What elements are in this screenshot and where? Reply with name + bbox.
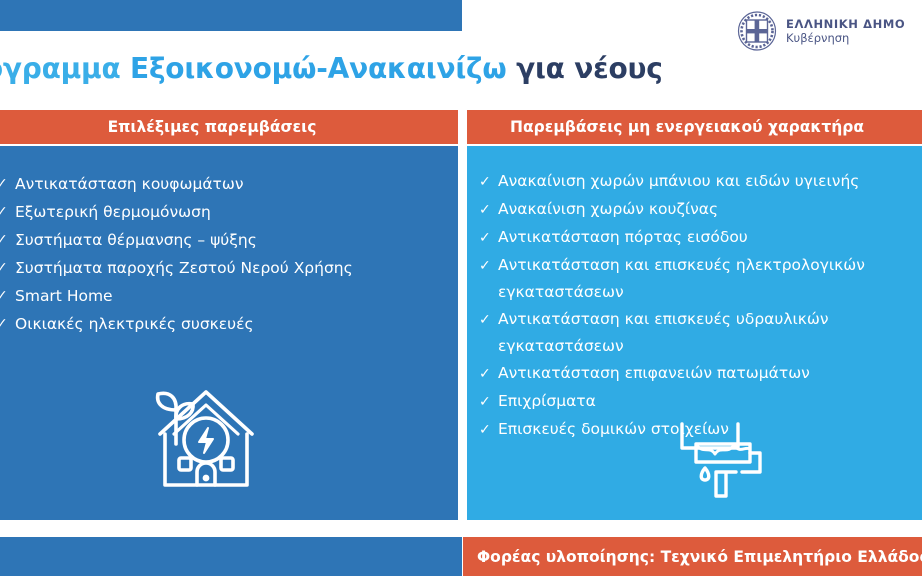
list-item-label: Συστήματα θέρμανσης – ψύξης	[15, 226, 440, 254]
check-icon: ✓	[479, 306, 498, 334]
list-item-label: Αντικατάσταση και επισκευές υδραυλικών ε…	[498, 306, 922, 360]
check-icon: ✓	[479, 196, 498, 224]
list-item-label: Οικιακές ηλεκτρικές συσκευές	[15, 310, 440, 338]
panel-non-energy-interventions: ✓ Ανακαίνιση χωρών μπάνιου και ειδών υγι…	[467, 146, 922, 520]
paint-roller-icon	[672, 414, 784, 502]
list-item: ✓ Συστήματα θέρμανσης – ψύξης	[0, 226, 440, 254]
list-item-label: Εξωτερική θερμομόνωση	[15, 198, 440, 226]
greek-coat-of-arms-icon	[736, 10, 778, 52]
list-item: ✓ Ανακαίνιση χωρών κουζίνας	[479, 196, 922, 224]
list-item: ✓ Εξωτερική θερμομόνωση	[0, 198, 440, 226]
logo-line-1: ΕΛΛΗΝΙΚΗ ΔΗΜΟ	[786, 17, 905, 31]
check-icon: ✓	[0, 170, 15, 198]
eligible-interventions-list: ✓ Αντικατάσταση κουφωμάτων ✓ Εξωτερική θ…	[0, 146, 458, 338]
list-item-label: Ανακαίνιση χωρών μπάνιου και ειδών υγιει…	[498, 168, 922, 195]
list-item: ✓ Αντικατάσταση κουφωμάτων	[0, 170, 440, 198]
list-item-label: Ανακαίνιση χωρών κουζίνας	[498, 196, 922, 223]
list-item-label: Επιχρίσματα	[498, 388, 922, 415]
list-item: ✓ Smart Home	[0, 282, 440, 310]
logo-line-2: Κυβέρνηση	[786, 31, 905, 46]
check-icon: ✓	[479, 168, 498, 196]
government-logo: ΕΛΛΗΝΙΚΗ ΔΗΜΟ Κυβέρνηση	[736, 8, 922, 54]
check-icon: ✓	[0, 254, 15, 282]
footer-implementing-body: Φορέας υλοποίησης: Τεχνικό Επιμελητήριο …	[463, 537, 922, 576]
list-item: ✓ Ανακαίνιση χωρών μπάνιου και ειδών υγι…	[479, 168, 922, 196]
column-header-right-label: Παρεμβάσεις μη ενεργειακού χαρακτήρα	[510, 118, 864, 136]
list-item: ✓ Αντικατάσταση πόρτας εισόδου	[479, 224, 922, 252]
list-item: ✓ Επιχρίσματα	[479, 388, 922, 416]
list-item-label: Αντικατάσταση επιφανειών πατωμάτων	[498, 360, 922, 387]
footer-label: Φορέας υλοποίησης: Τεχνικό Επιμελητήριο …	[477, 548, 922, 566]
column-header-non-energy-interventions: Παρεμβάσεις μη ενεργειακού χαρακτήρα	[467, 110, 922, 144]
title-part-2: Εξοικονομώ-Ανακαινίζω	[130, 52, 516, 85]
panel-eligible-interventions: ✓ Αντικατάσταση κουφωμάτων ✓ Εξωτερική θ…	[0, 146, 458, 520]
list-item-label: Αντικατάσταση πόρτας εισόδου	[498, 224, 922, 251]
check-icon: ✓	[479, 224, 498, 252]
check-icon: ✓	[479, 416, 498, 444]
check-icon: ✓	[479, 360, 498, 388]
list-item-label: Smart Home	[15, 282, 440, 310]
check-icon: ✓	[0, 226, 15, 254]
list-item: ✓ Οικιακές ηλεκτρικές συσκευές	[0, 310, 440, 338]
list-item-label: Αντικατάσταση και επισκευές ηλεκτρολογικ…	[498, 252, 922, 306]
list-item: ✓ Αντικατάσταση και επισκευές ηλεκτρολογ…	[479, 252, 922, 306]
non-energy-interventions-list: ✓ Ανακαίνιση χωρών μπάνιου και ειδών υγι…	[467, 146, 922, 444]
eco-house-icon	[138, 372, 274, 498]
list-item: ✓ Συστήματα παροχής Ζεστού Νερού Χρήσης	[0, 254, 440, 282]
column-header-eligible-interventions: Επιλέξιμες παρεμβάσεις	[0, 110, 458, 144]
check-icon: ✓	[0, 310, 15, 338]
footer-accent-bar	[0, 537, 462, 576]
list-item-label: Συστήματα παροχής Ζεστού Νερού Χρήσης	[15, 254, 440, 282]
title-part-1: ρόγραμμα	[0, 52, 130, 85]
title-part-3: για νέους	[516, 52, 663, 85]
logo-wordmark: ΕΛΛΗΝΙΚΗ ΔΗΜΟ Κυβέρνηση	[786, 17, 905, 46]
list-item: ✓ Αντικατάσταση και επισκευές υδραυλικών…	[479, 306, 922, 360]
list-item-label: Αντικατάσταση κουφωμάτων	[15, 170, 440, 198]
check-icon: ✓	[479, 388, 498, 416]
list-item: ✓ Αντικατάσταση επιφανειών πατωμάτων	[479, 360, 922, 388]
column-header-left-label: Επιλέξιμες παρεμβάσεις	[108, 118, 317, 136]
check-icon: ✓	[0, 282, 15, 310]
top-accent-bar	[0, 0, 462, 31]
page-title: ρόγραμμα Εξοικονομώ-Ανακαινίζω για νέους	[0, 52, 624, 86]
check-icon: ✓	[0, 198, 15, 226]
check-icon: ✓	[479, 252, 498, 280]
